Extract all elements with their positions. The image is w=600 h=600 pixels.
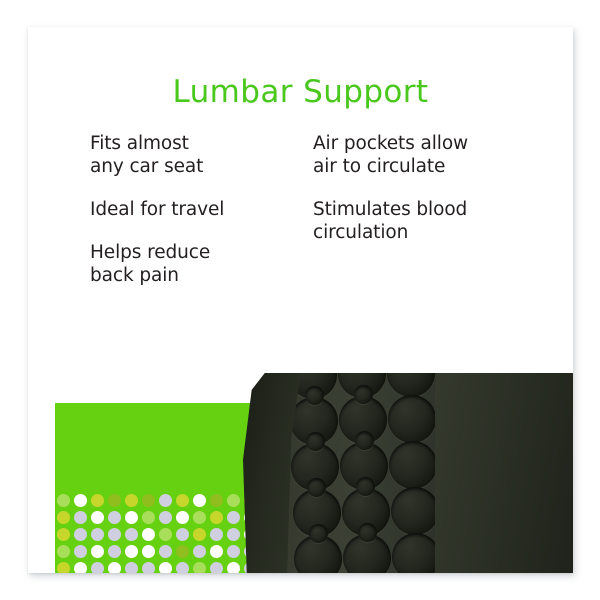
pattern-dot [176,511,189,524]
black-foam-lumbar-cushion [243,373,573,573]
air-pocket [389,441,435,489]
air-pocket [391,487,435,535]
pattern-dot [74,528,87,541]
feature-line: circulation [313,221,543,244]
pattern-dot [74,562,87,573]
air-pocket-small [354,385,373,404]
pattern-dot [193,494,206,507]
pattern-dot [108,511,121,524]
feature-line: Air pockets allow [313,132,543,155]
feature-item: Stimulates blood circulation [313,198,543,244]
pattern-dot [91,562,104,573]
feature-item: Helps reduce back pain [90,241,305,287]
pattern-dot [108,562,121,573]
pattern-dot [91,511,104,524]
feature-line: Helps reduce [90,241,305,264]
cushion-right-flank [435,373,573,573]
feature-item: Fits almost any car seat [90,132,305,178]
pattern-dot [74,511,87,524]
pattern-dot [159,562,172,573]
pattern-dot [142,511,155,524]
pattern-dot [210,545,223,558]
pattern-dot [142,545,155,558]
pattern-dot [125,562,138,573]
pattern-dot [227,545,240,558]
air-pocket [387,373,435,397]
air-pocket-small [358,523,377,542]
feature-line: Fits almost [90,132,305,155]
pattern-dot [91,545,104,558]
pattern-dot [57,494,70,507]
pattern-dot [176,494,189,507]
pattern-dot [125,545,138,558]
pattern-dot [142,528,155,541]
feature-item: Ideal for travel [90,198,305,221]
screenshot-canvas: Lumbar Support Fits almost any car seat … [0,0,600,600]
pattern-dot [57,562,70,573]
pattern-dot [176,545,189,558]
pattern-dot [91,528,104,541]
pattern-dot [176,528,189,541]
pattern-dot [193,562,206,573]
pattern-dot [159,494,172,507]
feature-line: Stimulates blood [313,198,543,221]
pattern-dot [125,494,138,507]
pattern-dot [227,562,240,573]
pattern-dot [125,511,138,524]
feature-line: any car seat [90,155,305,178]
pattern-dot [176,562,189,573]
air-pocket [388,395,435,443]
feature-line: Ideal for travel [90,198,305,221]
pattern-dot [142,562,155,573]
air-pocket-small [309,524,328,543]
feature-line: back pain [90,264,305,287]
pattern-dot [108,528,121,541]
pattern-dot [108,494,121,507]
pattern-dot [57,528,70,541]
pattern-dot [74,494,87,507]
pattern-dot [210,511,223,524]
page-title: Lumbar Support [28,74,573,110]
pattern-dot [193,528,206,541]
pattern-dot [74,545,87,558]
pattern-dot [210,562,223,573]
pattern-dot [193,511,206,524]
pattern-dot [108,545,121,558]
air-pocket [392,533,435,573]
pattern-dot [227,528,240,541]
product-info-card: Lumbar Support Fits almost any car seat … [28,27,573,573]
pattern-dot [57,545,70,558]
pattern-dot [210,494,223,507]
pattern-dot [159,511,172,524]
pattern-dot [91,494,104,507]
pattern-dot [125,528,138,541]
pattern-dot [227,511,240,524]
feature-item: Air pockets allow air to circulate [313,132,543,178]
feature-column-left: Fits almost any car seat Ideal for trave… [90,132,305,287]
feature-column-right: Air pockets allow air to circulate Stimu… [313,132,543,244]
pattern-dot [227,494,240,507]
pattern-dot [142,494,155,507]
product-photo [28,373,573,573]
air-pocket-panel [287,373,435,573]
pattern-dot [159,528,172,541]
feature-line: air to circulate [313,155,543,178]
air-pocket-small [305,386,324,405]
pattern-dot [193,545,206,558]
pattern-dot [210,528,223,541]
pattern-dot [159,545,172,558]
pattern-dot [57,511,70,524]
